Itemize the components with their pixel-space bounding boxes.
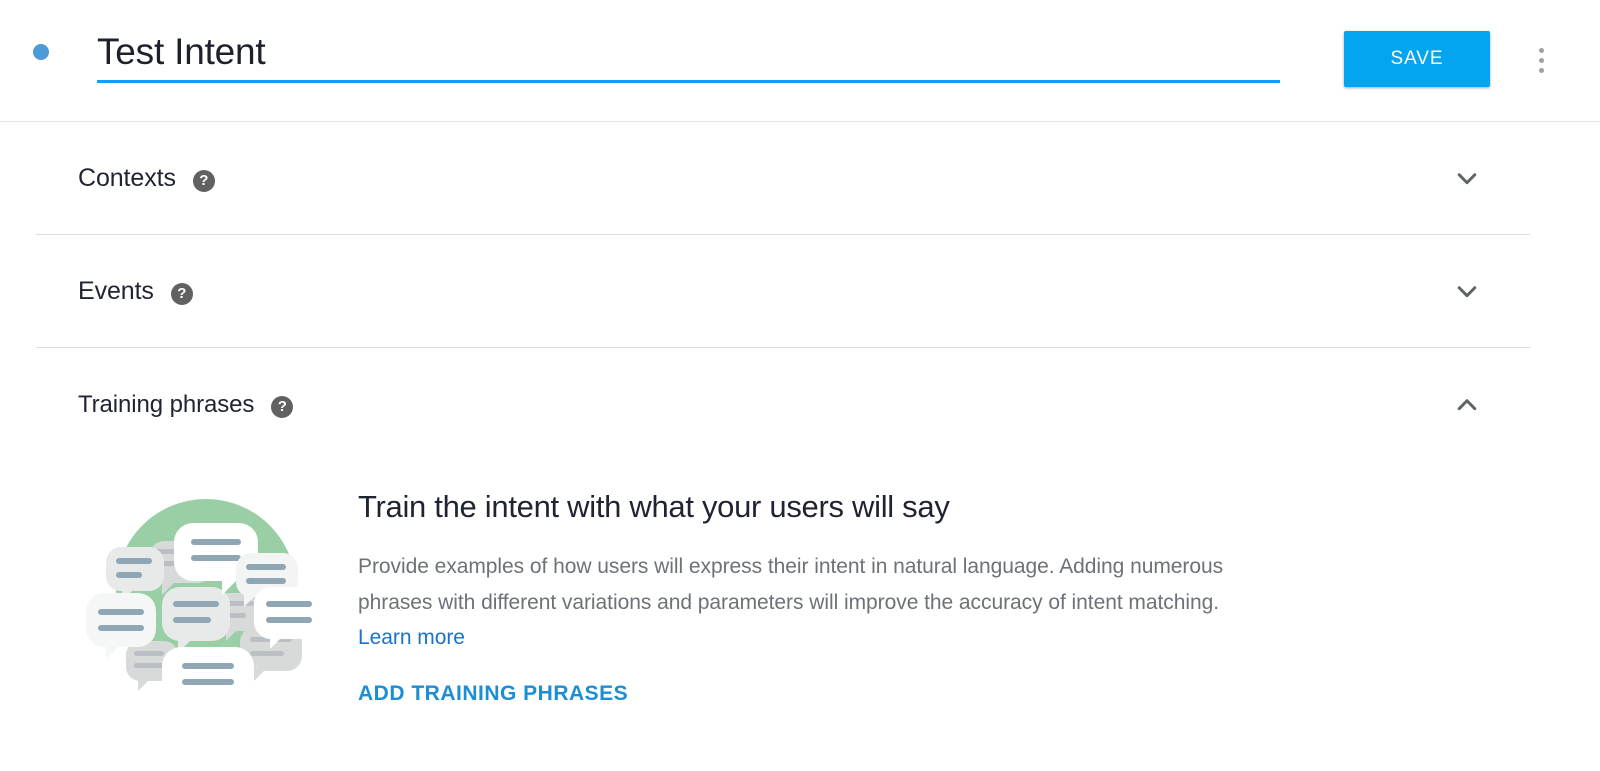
intent-status-dot [33, 44, 49, 60]
intent-editor-page: SAVE Contexts ? Events ? Training phrase… [0, 0, 1600, 771]
kebab-dot [1539, 48, 1544, 53]
kebab-dot [1539, 68, 1544, 73]
training-text-block: Train the intent with what your users wi… [358, 469, 1238, 709]
training-description: Provide examples of how users will expre… [358, 549, 1238, 656]
training-phrases-empty-state: Train the intent with what your users wi… [0, 461, 1600, 709]
more-options-icon[interactable] [1525, 42, 1557, 78]
save-button[interactable]: SAVE [1344, 31, 1490, 87]
title-underline [97, 80, 1280, 83]
section-training-phrases[interactable]: Training phrases ? [0, 348, 1600, 461]
chevron-down-icon[interactable] [1450, 162, 1484, 196]
training-heading: Train the intent with what your users wi… [358, 487, 1238, 527]
help-icon[interactable]: ? [271, 396, 293, 418]
add-training-phrases-button[interactable]: ADD TRAINING PHRASES [358, 682, 628, 706]
section-events[interactable]: Events ? [0, 235, 1600, 348]
header-bar: SAVE [0, 0, 1600, 122]
help-icon[interactable]: ? [193, 170, 215, 192]
learn-more-link[interactable]: Learn more [358, 626, 465, 649]
section-contexts[interactable]: Contexts ? [0, 122, 1600, 235]
chevron-up-icon[interactable] [1450, 388, 1484, 422]
section-training-phrases-label: Training phrases [78, 391, 254, 419]
section-events-label: Events [78, 277, 154, 306]
training-description-text: Provide examples of how users will expre… [358, 555, 1223, 614]
section-contexts-label: Contexts [78, 164, 176, 193]
help-icon[interactable]: ? [171, 283, 193, 305]
intent-name-input[interactable] [97, 26, 1280, 78]
kebab-dot [1539, 58, 1544, 63]
intent-title-field[interactable] [97, 26, 1280, 83]
chevron-down-icon[interactable] [1450, 275, 1484, 309]
speech-bubbles-illustration [78, 469, 333, 709]
